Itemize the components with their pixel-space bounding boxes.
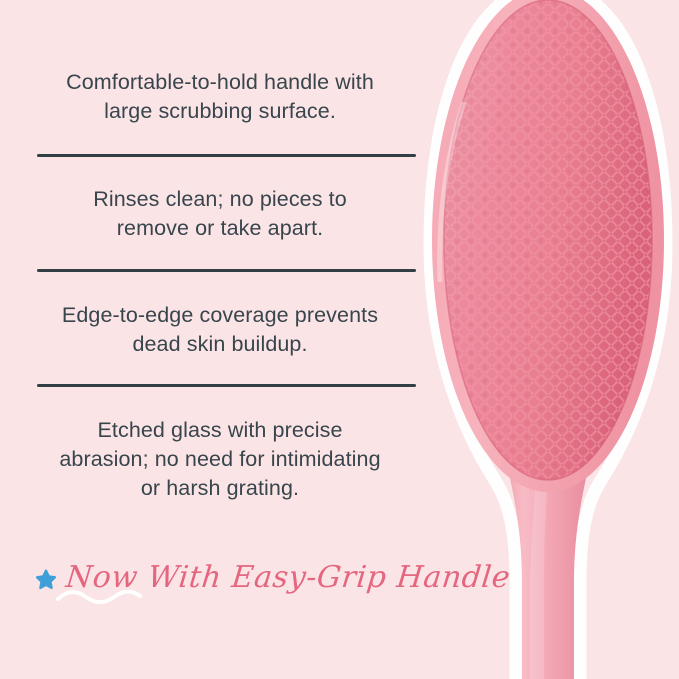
feature-text: Etched glass with precise abrasion; no n… [22,416,418,502]
feature-item-rinses-clean: Rinses clean; no pieces to remove or tak… [22,185,418,243]
feature-item-etched-glass: Etched glass with precise abrasion; no n… [22,416,418,502]
feature-text: Comfortable-to-hold handle with large sc… [22,68,418,126]
feature-divider [37,154,416,157]
tagline-text: Now With Easy-Grip Handle [63,552,458,604]
feature-text: Rinses clean; no pieces to remove or tak… [22,185,418,243]
product-feature-infographic: Comfortable-to-hold handle with large sc… [0,0,679,679]
feature-text: Edge-to-edge coverage prevents dead skin… [22,301,418,359]
feature-divider [37,384,416,387]
feature-divider [37,269,416,272]
star-icon [35,569,57,591]
feature-item-comfort-handle: Comfortable-to-hold handle with large sc… [22,68,418,126]
feature-item-edge-coverage: Edge-to-edge coverage prevents dead skin… [22,301,418,359]
tagline: Now With Easy-Grip Handle [30,552,430,612]
